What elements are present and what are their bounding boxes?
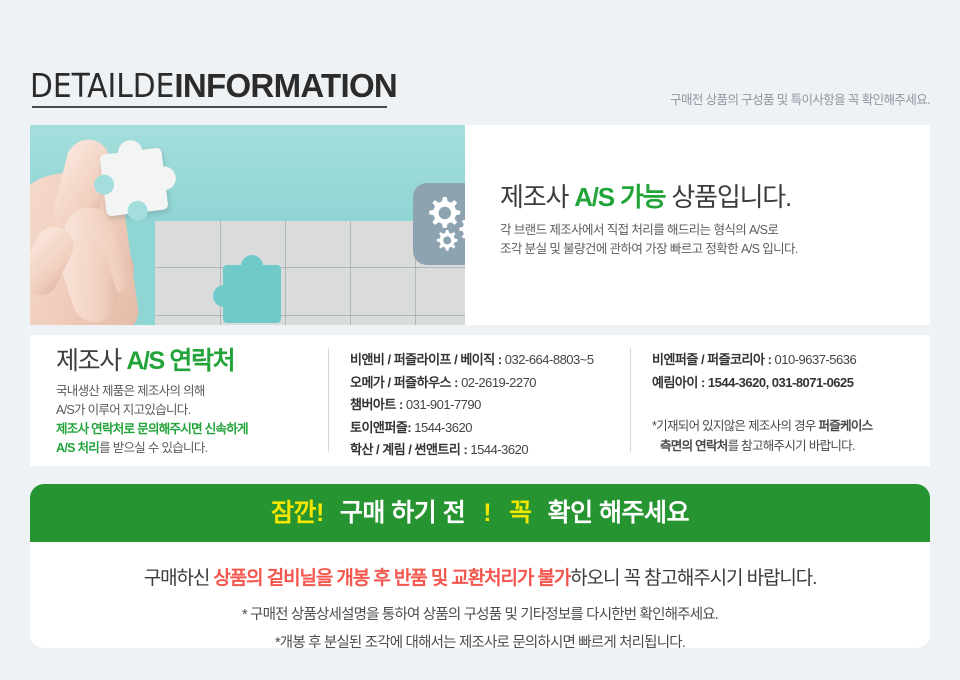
- contact-row: 비앤비 / 퍼즐라이프 / 베이직 : 032-664-8803~5: [350, 349, 594, 372]
- contact-desc-line-4-highlight: A/S 처리: [56, 441, 99, 455]
- piece-notch: [126, 200, 148, 222]
- contact-number[interactable]: 1544-3620: [414, 420, 472, 435]
- contact-desc-line-4-rest: 를 받으실 수 있습니다.: [99, 441, 207, 455]
- as-availability-card: 제조사 A/S 가능 상품입니다. 각 브랜드 제조사에서 직접 처리를 해드리…: [30, 125, 930, 325]
- contact-brand: 예림아이 :: [652, 375, 708, 390]
- column-divider: [328, 348, 329, 452]
- as-heading-post: 상품입니다.: [665, 182, 791, 212]
- held-puzzle-piece: [99, 147, 168, 216]
- footnote-text: 를 참고해주시기 바랍니다.: [728, 439, 855, 453]
- contact-intro-column: 제조사 A/S 연락처 국내생산 제품은 제조사의 의해 A/S가 이루어 지고…: [56, 346, 248, 458]
- contact-title-pre: 제조사: [56, 347, 126, 375]
- contact-brand: 토이앤퍼즐:: [350, 420, 414, 435]
- puzzle-grid-line: [285, 221, 286, 325]
- as-heading-pre: 제조사: [500, 182, 574, 212]
- contact-title-highlight: A/S 연락처: [126, 347, 234, 375]
- contact-number[interactable]: 1544-3620: [470, 442, 528, 457]
- contact-desc-line-2: A/S가 이루어 지고있습니다.: [56, 401, 248, 420]
- contact-row: 예림아이 : 1544-3620, 031-8071-0625: [652, 372, 872, 395]
- contact-description: 국내생산 제품은 제조사의 의해 A/S가 이루어 지고있습니다. 제조사 연락…: [56, 382, 248, 458]
- banner-part-wait: 잠깐!: [271, 499, 324, 527]
- contact-number[interactable]: 02-2619-2270: [461, 375, 536, 390]
- page-header: DETAILDEINFORMATION 구매전 상품의 구성품 및 특이사항을 …: [30, 68, 930, 110]
- puzzle-photo: [30, 125, 465, 325]
- contact-number[interactable]: 010-9637-5636: [775, 352, 857, 367]
- hand-illustration: [30, 133, 158, 325]
- puzzle-grid-line: [155, 315, 465, 316]
- as-heading-highlight: A/S 가능: [574, 182, 665, 212]
- contact-list-right: 비엔퍼즐 / 퍼즐코리아 : 010-9637-5636 예림아이 : 1544…: [652, 349, 872, 456]
- contact-brand: 학산 / 계림 / 썬앤트리 :: [350, 442, 470, 457]
- contact-footnote-line-2: 측면의 연락처를 참고해주시기 바랍니다.: [652, 436, 872, 456]
- contact-list-middle: 비앤비 / 퍼즐라이프 / 베이직 : 032-664-8803~5 오메가 /…: [350, 349, 594, 462]
- column-divider: [630, 348, 631, 452]
- contact-brand: 비앤비 / 퍼즐라이프 / 베이직 :: [350, 352, 505, 367]
- title-underline: [32, 106, 387, 108]
- contact-number[interactable]: 031-901-7790: [406, 397, 481, 412]
- contact-brand: 비엔퍼즐 / 퍼즐코리아 :: [652, 352, 775, 367]
- puzzle-grid-line: [350, 221, 351, 325]
- banner-exclamation: !: [465, 484, 509, 542]
- page-title: DETAILDEINFORMATION: [30, 68, 397, 104]
- as-text-block: 제조사 A/S 가능 상품입니다. 각 브랜드 제조사에서 직접 처리를 해드리…: [500, 182, 798, 259]
- footnote-emphasis: 퍼즐케이스: [818, 419, 872, 433]
- puzzle-grid-line: [155, 267, 465, 268]
- gears-icon: [413, 183, 465, 265]
- contact-number[interactable]: 032-664-8803~5: [505, 352, 594, 367]
- footnote-emphasis: 측면의 연락처: [660, 439, 728, 453]
- page-title-thin: DETAILDE: [30, 66, 174, 105]
- contact-row: 오메가 / 퍼즐하우스 : 02-2619-2270: [350, 372, 594, 395]
- contact-footnote-line-1: *기재되어 있지않은 제조사의 경우 퍼즐케이스: [652, 416, 872, 436]
- notice-line-3: *개봉 후 분실된 조각에 대해서는 제조사로 문의하시면 빠르게 처리됩니다.: [30, 631, 930, 652]
- piece-knob: [117, 139, 144, 166]
- bottom-notice-card: 구매하신 상품의 겉비닐을 개봉 후 반품 및 교환처리가 불가하오니 꼭 참고…: [30, 542, 930, 648]
- notice-line-1-highlight: 상품의 겉비닐을 개봉 후 반품 및 교환처리가 불가: [213, 568, 570, 589]
- contact-title: 제조사 A/S 연락처: [56, 346, 248, 377]
- page-title-bold: INFORMATION: [174, 67, 397, 104]
- attention-banner-text: 잠깐!구매 하기 전!꼭확인 해주세요: [30, 484, 930, 542]
- contact-desc-line-3: 제조사 연락처로 문의해주시면 신속하게: [56, 420, 248, 439]
- contact-row: 학산 / 계림 / 썬앤트리 : 1544-3620: [350, 439, 594, 462]
- puzzle-grid-line: [220, 221, 221, 325]
- as-heading: 제조사 A/S 가능 상품입니다.: [500, 182, 798, 212]
- footnote-text: *기재되어 있지않은 제조사의 경우: [652, 419, 818, 433]
- notice-line-1-pre: 구매하신: [144, 568, 214, 589]
- banner-part-must: 꼭: [509, 499, 532, 527]
- contact-row: 비엔퍼즐 / 퍼즐코리아 : 010-9637-5636: [652, 349, 872, 372]
- as-subtext: 각 브랜드 제조사에서 직접 처리를 해드리는 형식의 A/S로 조각 분실 및…: [500, 221, 798, 259]
- attention-banner: 잠깐!구매 하기 전!꼭확인 해주세요: [30, 484, 930, 542]
- puzzle-missing-slot: [223, 265, 281, 323]
- banner-part-confirm: 확인 해주세요: [548, 499, 689, 527]
- contact-brand: 챔버아트 :: [350, 397, 406, 412]
- notice-line-2: * 구매전 상품상세설명을 통하여 상품의 구성품 및 기타정보를 다시한번 확…: [30, 603, 930, 624]
- contact-row: 토이앤퍼즐: 1544-3620: [350, 417, 594, 440]
- banner-part-before-purchase: 구매 하기 전: [340, 499, 465, 527]
- contact-brand: 오메가 / 퍼즐하우스 :: [350, 375, 461, 390]
- as-subtext-line-2: 조각 분실 및 불량건에 관하여 가장 빠르고 정확한 A/S 입니다.: [500, 240, 798, 259]
- notice-line-1: 구매하신 상품의 겉비닐을 개봉 후 반품 및 교환처리가 불가하오니 꼭 참고…: [30, 542, 930, 590]
- header-note: 구매전 상품의 구성품 및 특이사항을 꼭 확인해주세요.: [670, 89, 930, 108]
- as-subtext-line-1: 각 브랜드 제조사에서 직접 처리를 해드리는 형식의 A/S로: [500, 221, 798, 240]
- contact-desc-line-1: 국내생산 제품은 제조사의 의해: [56, 382, 248, 401]
- contact-desc-line-4: A/S 처리를 받으실 수 있습니다.: [56, 439, 248, 458]
- spacer: [652, 394, 872, 416]
- manufacturer-contact-card: 제조사 A/S 연락처 국내생산 제품은 제조사의 의해 A/S가 이루어 지고…: [30, 335, 930, 466]
- contact-row: 챔버아트 : 031-901-7790: [350, 394, 594, 417]
- notice-line-1-post: 하오니 꼭 참고해주시기 바랍니다.: [570, 568, 816, 589]
- contact-number[interactable]: 1544-3620, 031-8071-0625: [708, 375, 854, 390]
